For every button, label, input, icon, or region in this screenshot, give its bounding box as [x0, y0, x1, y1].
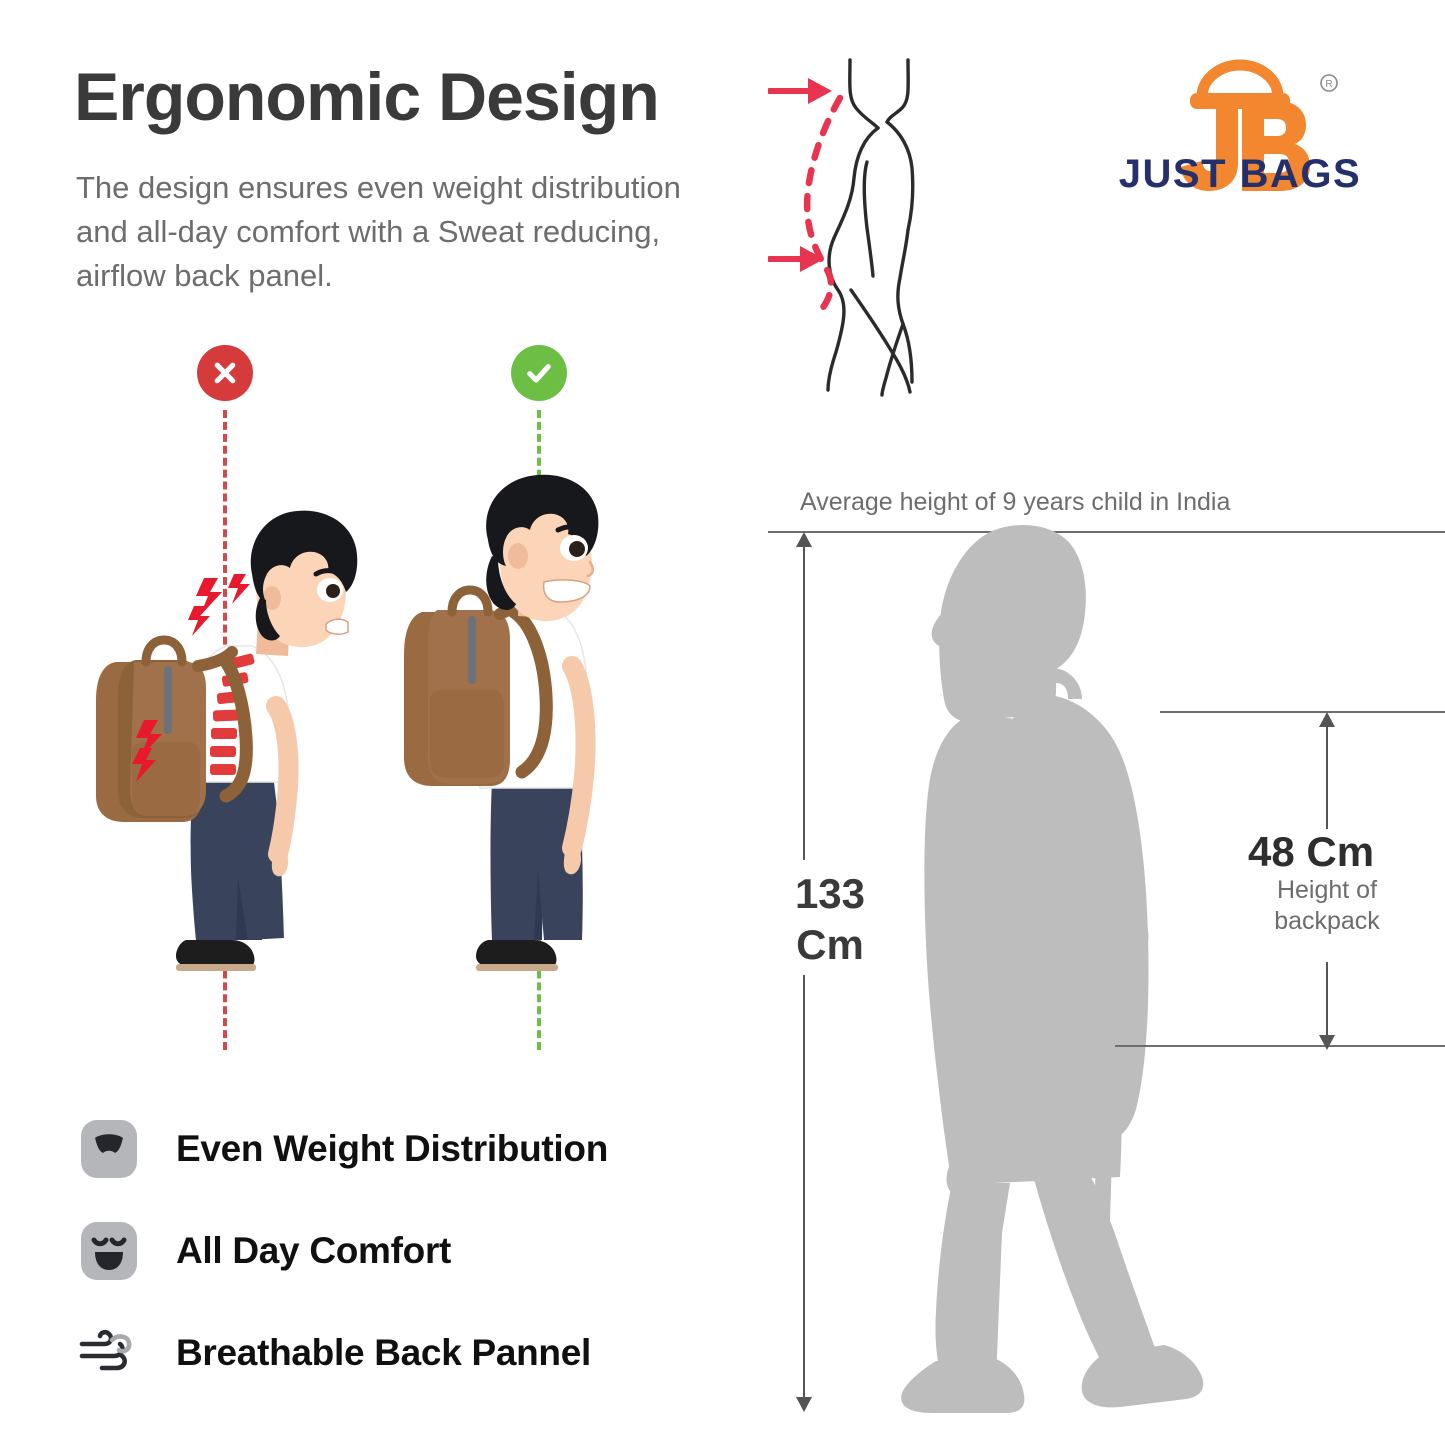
- child-with-backpack-silhouette: [820, 515, 1300, 1420]
- infographic-canvas: Ergonomic Design The design ensures even…: [0, 0, 1445, 1445]
- check-badge: [511, 345, 567, 401]
- feature-label: Even Weight Distribution: [176, 1128, 608, 1170]
- cross-badge: [197, 345, 253, 401]
- backpack-dimension-arrow-down: [1318, 1034, 1336, 1055]
- backpack-extension-line-top: [1160, 711, 1445, 713]
- backpack-height-caption: Height of backpack: [1262, 875, 1392, 938]
- backpack-dimension-line-lower: [1326, 962, 1328, 1040]
- height-dimension-line-upper: [803, 540, 805, 860]
- page-subtitle: The design ensures even weight distribut…: [76, 166, 696, 298]
- backpack-dimension-arrow-up: [1318, 712, 1336, 733]
- reference-height-label: Average height of 9 years child in India: [800, 488, 1230, 517]
- height-dimension-line-lower: [803, 975, 805, 1400]
- child-height-number: 133: [775, 868, 885, 919]
- backpack-extension-line-bottom: [1115, 1045, 1445, 1047]
- wind-airflow-icon: [78, 1322, 140, 1384]
- feature-item-even-weight-distribution: Even Weight Distribution: [78, 1098, 738, 1200]
- weight-gauge-icon: [78, 1118, 140, 1180]
- feature-item-breathable-back-pannel: Breathable Back Pannel: [78, 1302, 738, 1404]
- cross-icon: [208, 356, 242, 390]
- feature-label: All Day Comfort: [176, 1230, 451, 1272]
- height-dimension-arrow-down: [795, 1396, 813, 1417]
- feature-label: Breathable Back Pannel: [176, 1332, 591, 1374]
- check-icon: [522, 356, 556, 390]
- smiling-face-icon: [78, 1220, 140, 1282]
- height-dimension-arrow-up: [795, 532, 813, 553]
- feature-item-all-day-comfort: All Day Comfort: [78, 1200, 738, 1302]
- page-title: Ergonomic Design: [74, 62, 774, 133]
- illustration-bad-posture: [76, 470, 396, 1050]
- child-height-unit: Cm: [775, 919, 885, 970]
- brand-name: JUST BAGS: [1090, 152, 1390, 197]
- backpack-height-value: 48 Cm: [1248, 828, 1374, 876]
- child-height-value: 133 Cm: [775, 868, 885, 970]
- feature-list: Even Weight Distribution All Day Comfort: [78, 1098, 738, 1404]
- backpack-dimension-line-upper: [1326, 719, 1328, 829]
- svg-text:R: R: [1325, 79, 1332, 90]
- spine-posture-diagram: [760, 52, 1010, 397]
- illustration-good-posture: [392, 470, 692, 1050]
